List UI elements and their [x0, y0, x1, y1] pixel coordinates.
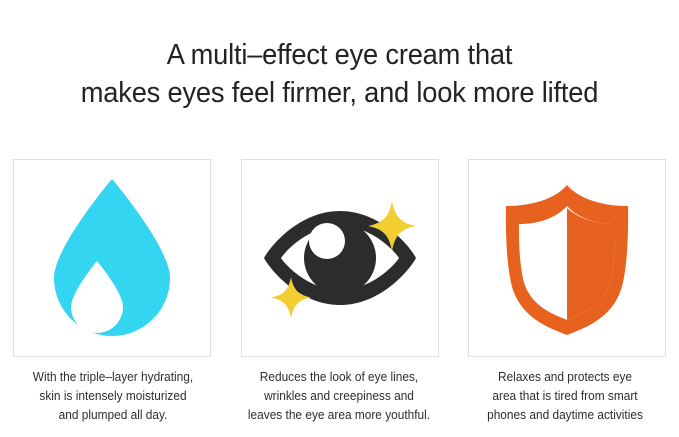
caption-hydration-line-1: With the triple–layer hydrating, [6, 368, 221, 387]
caption-protection: Relaxes and protects eye area that is ti… [458, 368, 673, 437]
caption-wrinkles-line-3: leaves the eye area more youthful. [232, 406, 447, 425]
caption-hydration-line-3: and plumped all day. [6, 406, 221, 425]
page-title: A multi–effect eye cream that makes eyes… [20, 36, 658, 112]
caption-wrinkles: Reduces the look of eye lines, wrinkles … [232, 368, 447, 437]
headline-line-2: makes eyes feel firmer, and look more li… [20, 74, 658, 112]
water-droplet-icon [27, 173, 197, 343]
caption-protection-line-1: Relaxes and protects eye [458, 368, 673, 387]
caption-hydration: With the triple–layer hydrating, skin is… [6, 368, 221, 437]
benefit-panel-wrinkles [241, 159, 439, 357]
benefit-panels [13, 159, 666, 357]
caption-hydration-line-2: skin is intensely moisturized [6, 387, 221, 406]
caption-wrinkles-line-2: wrinkles and creepiness and [232, 387, 447, 406]
caption-protection-line-2: area that is tired from smart [458, 387, 673, 406]
shield-icon [482, 173, 652, 343]
product-benefits-infographic: A multi–effect eye cream that makes eyes… [0, 0, 679, 437]
headline-line-1: A multi–effect eye cream that [20, 36, 658, 74]
benefit-panel-hydration [13, 159, 211, 357]
benefit-panel-protection [468, 159, 666, 357]
caption-protection-line-3: phones and daytime activities [458, 406, 673, 425]
caption-wrinkles-line-1: Reduces the look of eye lines, [232, 368, 447, 387]
sparkling-eye-icon [255, 173, 425, 343]
benefit-captions: With the triple–layer hydrating, skin is… [0, 368, 679, 437]
